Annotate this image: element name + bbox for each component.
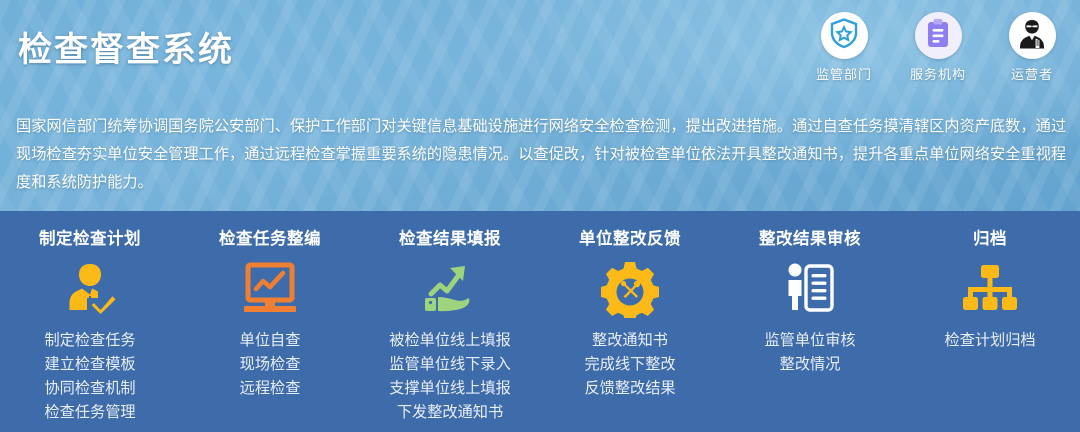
flow-item: 下发整改通知书 bbox=[397, 402, 503, 424]
page-title: 检查督查系统 bbox=[18, 22, 234, 71]
flow-step-title: 归档 bbox=[973, 225, 1007, 249]
flow-step-items: 单位自查 现场检查 远程检查 bbox=[240, 330, 301, 400]
process-flow-panel: 制定检查计划 制定检查任务 建立检查模板 协同检查机制 检查任务管理 检查任务整… bbox=[0, 211, 1080, 432]
flow-step-items: 监管单位审核 整改情况 bbox=[764, 330, 855, 376]
operator-person-icon bbox=[1016, 17, 1048, 55]
flow-item: 制定检查任务 bbox=[44, 330, 135, 352]
flow-item: 支撑单位线上填报 bbox=[389, 378, 511, 400]
flow-step-result-review[interactable]: 整改结果审核 监管单位审核 整改情况 bbox=[720, 211, 900, 432]
hand-growth-arrow-icon bbox=[419, 258, 481, 320]
intro-paragraph: 国家网信部门统筹协调国务院公安部门、保护工作部门对关键信息基础设施进行网络安全检… bbox=[16, 113, 1066, 197]
flow-item: 反馈整改结果 bbox=[584, 378, 675, 400]
flow-step-items: 检查计划归档 bbox=[944, 330, 1035, 352]
flow-item: 监管单位审核 bbox=[764, 330, 855, 352]
flow-step-task-compile[interactable]: 检查任务整编 单位自查 现场检查 远程检查 bbox=[180, 211, 360, 432]
monitor-chart-icon bbox=[239, 258, 301, 320]
role-label: 服务机构 bbox=[910, 64, 966, 83]
flow-step-items: 制定检查任务 建立检查模板 协同检查机制 检查任务管理 bbox=[44, 330, 135, 424]
flow-item: 被检单位线上填报 bbox=[389, 330, 511, 352]
businessman-check-icon bbox=[60, 258, 120, 320]
role-icon-circle bbox=[915, 12, 962, 59]
role-item-operator[interactable]: 运营者 bbox=[992, 12, 1072, 83]
flow-step-make-plan[interactable]: 制定检查计划 制定检查任务 建立检查模板 协同检查机制 检查任务管理 bbox=[0, 211, 180, 432]
flow-item: 监管单位线下录入 bbox=[389, 354, 511, 376]
flow-step-title: 检查结果填报 bbox=[399, 225, 501, 249]
page-root: 检查督查系统 监管部门 bbox=[0, 0, 1080, 432]
flow-item: 检查任务管理 bbox=[44, 402, 135, 424]
shield-star-icon bbox=[829, 17, 859, 54]
flow-step-items: 整改通知书 完成线下整改 反馈整改结果 bbox=[584, 330, 675, 400]
flow-step-title: 制定检查计划 bbox=[39, 225, 141, 249]
person-document-icon bbox=[782, 258, 838, 320]
flow-step-title: 单位整改反馈 bbox=[579, 225, 681, 249]
flow-step-result-report[interactable]: 检查结果填报 被检单位线上填报 监管单位线下录入 支撑单位线上填报 下发整改通知… bbox=[360, 211, 540, 432]
flow-item: 检查计划归档 bbox=[944, 330, 1035, 352]
flow-item: 整改通知书 bbox=[592, 330, 668, 352]
flow-step-archive[interactable]: 归档 检查计划归档 bbox=[900, 211, 1080, 432]
role-item-regulator[interactable]: 监管部门 bbox=[804, 12, 884, 83]
org-chart-icon bbox=[961, 258, 1019, 320]
flow-step-rectification-feedback[interactable]: 单位整改反馈 整改通知书 完成线下整改 反馈整改结果 bbox=[540, 211, 720, 432]
flow-item: 协同检查机制 bbox=[44, 378, 135, 400]
flow-step-items: 被检单位线上填报 监管单位线下录入 支撑单位线上填报 下发整改通知书 bbox=[389, 330, 511, 424]
flow-step-title: 整改结果审核 bbox=[759, 225, 861, 249]
role-label: 监管部门 bbox=[816, 64, 872, 83]
flow-item: 单位自查 bbox=[240, 330, 301, 352]
flow-item: 整改情况 bbox=[780, 354, 841, 376]
role-item-service-org[interactable]: 服务机构 bbox=[898, 12, 978, 83]
role-icon-circle bbox=[821, 12, 868, 59]
flow-step-title: 检查任务整编 bbox=[219, 225, 321, 249]
flow-item: 完成线下整改 bbox=[584, 354, 675, 376]
role-list: 监管部门 服务机构 bbox=[804, 12, 1072, 83]
role-label: 运营者 bbox=[1011, 64, 1053, 83]
hero-banner: 检查督查系统 监管部门 bbox=[0, 0, 1080, 211]
flow-item: 远程检查 bbox=[240, 378, 301, 400]
role-icon-circle bbox=[1009, 12, 1056, 59]
flow-item: 现场检查 bbox=[240, 354, 301, 376]
gear-tools-icon bbox=[601, 258, 659, 320]
flow-item: 建立检查模板 bbox=[44, 354, 135, 376]
clipboard-icon bbox=[925, 18, 951, 54]
